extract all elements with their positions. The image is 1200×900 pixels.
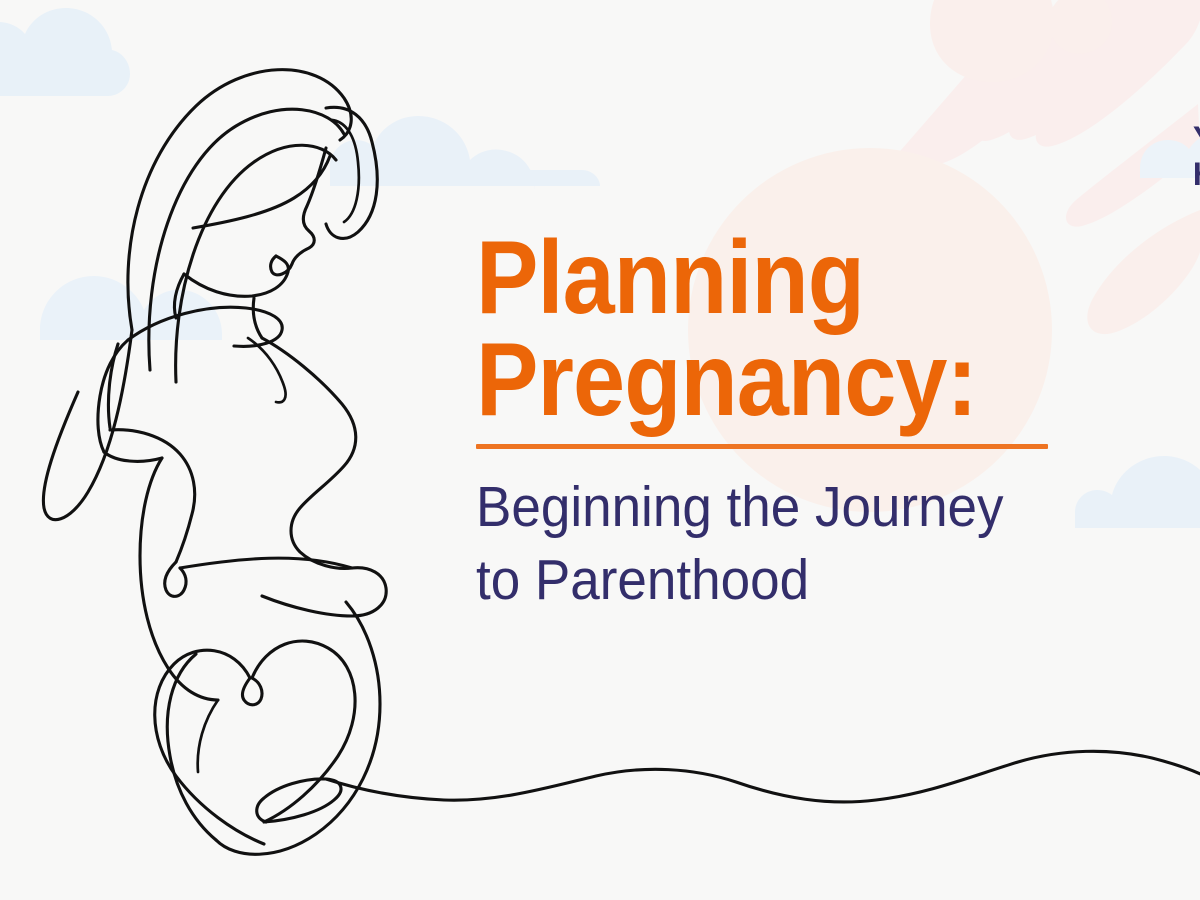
heart-left-lobe — [155, 650, 264, 844]
sleeve-inner-fold — [108, 344, 118, 428]
peach-blob-bottom-right — [1087, 210, 1200, 334]
hand-fingers-curl — [262, 568, 386, 616]
hand-loop — [165, 562, 186, 596]
ponytail-inner — [332, 120, 359, 222]
logo-line-1: Y — [1193, 122, 1200, 158]
shoulder-sleeve-top — [98, 340, 128, 452]
cloud-mid-right — [1075, 456, 1200, 528]
page-subtitle: Beginning the Journey to Parenthood — [476, 471, 1034, 617]
back-spine-contour — [140, 458, 218, 700]
bottom-wave-line — [326, 751, 1200, 802]
heart-bottom-crossing-loop — [257, 779, 341, 822]
hair-long-strand-outer — [43, 330, 132, 520]
garment-collar — [128, 307, 282, 346]
neck-back-line — [174, 274, 184, 318]
title-divider-rule — [476, 444, 1048, 449]
brand-logo-partial: Y H — [1193, 122, 1200, 191]
hairline-forehead — [193, 156, 330, 228]
page-title: Planning Pregnancy: — [476, 228, 1016, 432]
belly-outer-curve — [216, 602, 380, 854]
leaf-pattern-top-right — [885, 0, 1200, 227]
hip-leg-hint — [198, 700, 218, 772]
cloud-far-right-top — [1140, 134, 1200, 178]
poster-canvas: Planning Pregnancy: Beginning the Journe… — [0, 0, 1200, 900]
bust-front-contour — [262, 338, 356, 568]
face-profile — [271, 148, 326, 275]
hair-crown-inner — [149, 109, 344, 370]
hair-outer-contour — [128, 70, 351, 330]
headline-line-1: Planning — [476, 228, 1016, 330]
hair-inner-line — [176, 145, 336, 382]
cloud-behind-head — [40, 276, 222, 340]
neck-front-line — [253, 298, 262, 338]
heart-right-lobe — [252, 641, 355, 822]
subtitle-line-1: Beginning the Journey — [476, 471, 1034, 544]
headline-line-2: Pregnancy: — [476, 330, 1016, 432]
headline-block: Planning Pregnancy: Beginning the Journe… — [476, 228, 1076, 617]
heart-dimple-loop — [242, 678, 262, 705]
cloud-top-left — [0, 8, 130, 96]
forearm-across-belly — [180, 558, 352, 568]
subtitle-line-2: to Parenthood — [476, 544, 1034, 617]
arm-upper — [110, 430, 195, 562]
logo-line-2: H — [1193, 158, 1200, 192]
bust-under-line — [248, 338, 286, 402]
mouth-chin-jaw — [184, 256, 288, 296]
cloud-center-left — [330, 116, 600, 190]
sleeve-hem — [104, 452, 162, 461]
belly-lower-left-sweep — [167, 654, 216, 840]
ponytail-outer — [326, 107, 377, 238]
